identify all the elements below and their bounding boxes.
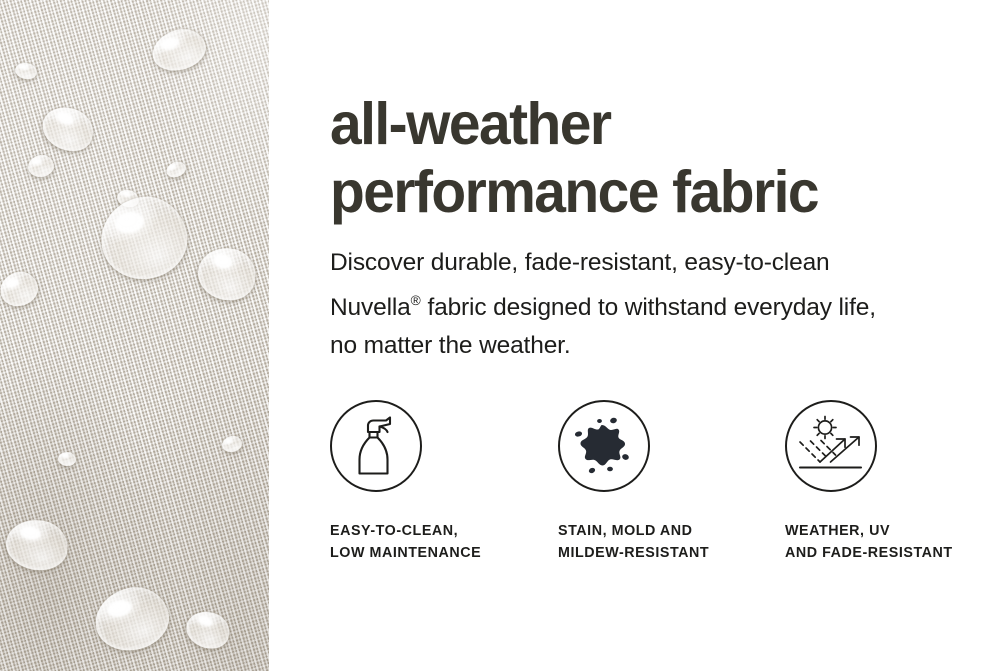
subcopy: Discover durable, fade-resistant, easy-t… xyxy=(330,244,955,365)
feature-item-uv-resistant: WEATHER, UV AND FADE-RESISTANT xyxy=(785,400,953,564)
feature-item-stain-resistant: STAIN, MOLD AND MILDEW-RESISTANT xyxy=(558,400,709,564)
feature-caption: EASY-TO-CLEAN, LOW MAINTENANCE xyxy=(330,520,481,564)
stain-splatter-icon xyxy=(572,415,636,477)
fabric-photo xyxy=(0,0,269,671)
sun-uv-reflect-icon xyxy=(798,415,864,477)
subcopy-line-2: fabric designed to withstand everyday li… xyxy=(421,294,876,321)
page-title: all-weather performance fabric xyxy=(330,90,818,226)
feature-caption: STAIN, MOLD AND MILDEW-RESISTANT xyxy=(558,520,709,564)
feature-icon-circle xyxy=(558,400,650,492)
subcopy-line-1: Discover durable, fade-resistant, easy-t… xyxy=(330,249,830,276)
promo-banner: all-weather performance fabric Discover … xyxy=(0,0,1005,671)
subcopy-line-3: no matter the weather. xyxy=(330,332,570,359)
spray-bottle-icon xyxy=(346,413,406,479)
feature-caption: WEATHER, UV AND FADE-RESISTANT xyxy=(785,520,953,564)
feature-list: EASY-TO-CLEAN, LOW MAINTENANCE xyxy=(330,400,990,570)
feature-icon-circle xyxy=(330,400,422,492)
feature-item-easy-to-clean: EASY-TO-CLEAN, LOW MAINTENANCE xyxy=(330,400,481,564)
feature-icon-circle xyxy=(785,400,877,492)
content-pane: all-weather performance fabric Discover … xyxy=(330,0,990,671)
registered-trademark-icon: ® xyxy=(411,293,421,308)
brand-name: Nuvella xyxy=(330,294,411,321)
